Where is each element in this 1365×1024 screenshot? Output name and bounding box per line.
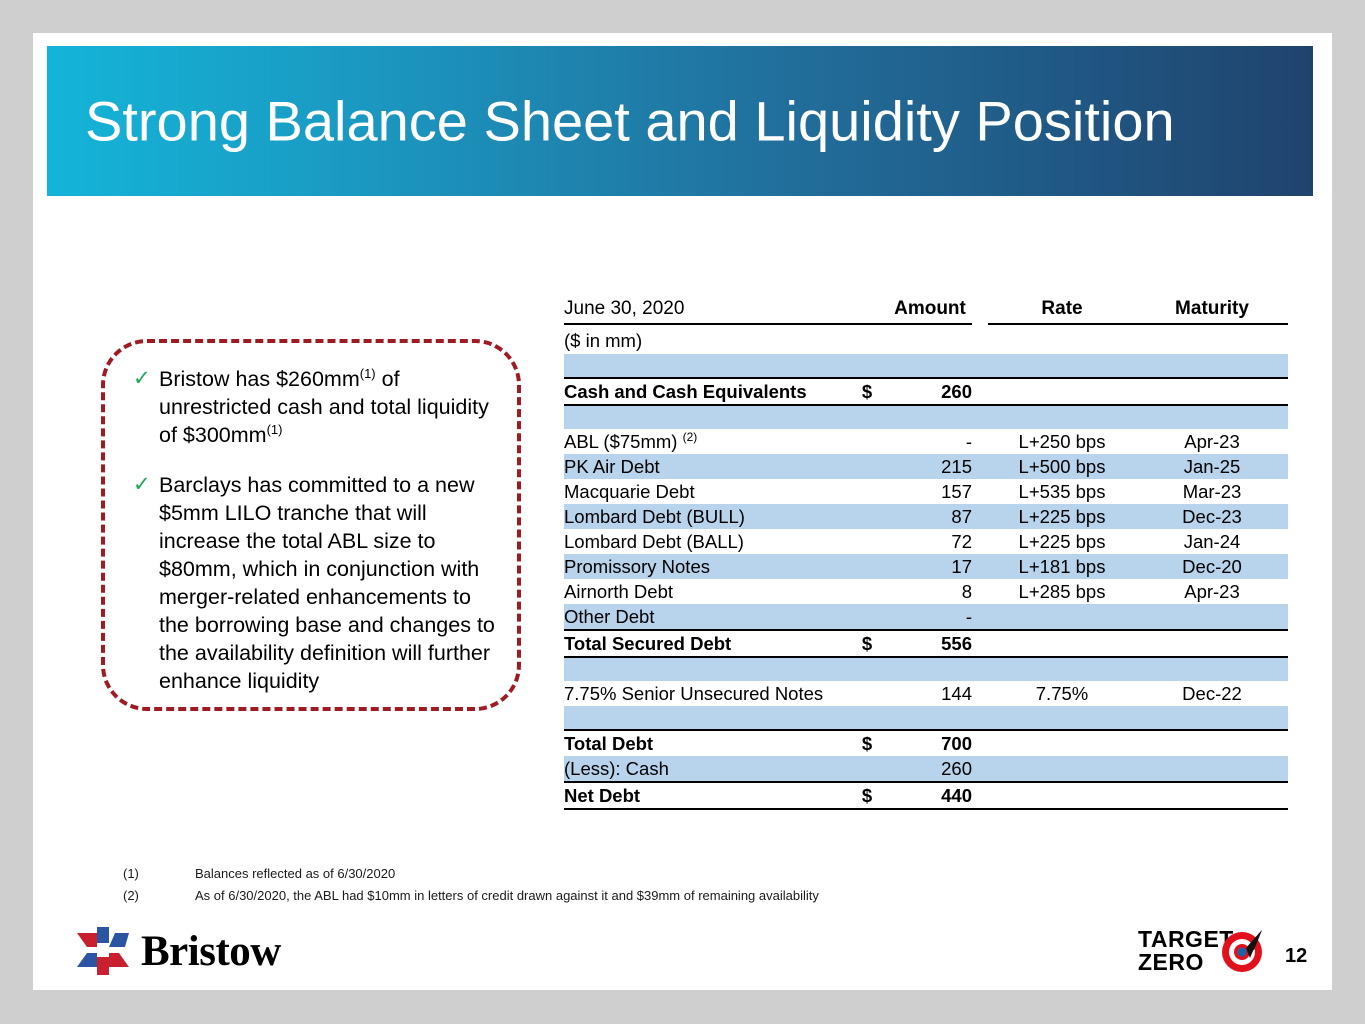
row-amount: - [888,604,972,630]
net-debt-maturity [1136,782,1288,809]
row-amount: 215 [888,454,972,479]
total-secured-amount: 556 [888,630,972,657]
liquidity-callout-box: ✓Bristow has $260mm(1) of unrestricted c… [101,339,521,711]
footnote-text: As of 6/30/2020, the ABL had $10mm in le… [195,885,819,907]
bristow-logo: Bristow [73,923,293,985]
unsecured-rate: 7.75% [988,681,1136,706]
row-amount: - [888,429,972,454]
row-amount: 17 [888,554,972,579]
row-rate: L+285 bps [988,579,1136,604]
table-row: Macquarie Debt157L+535 bpsMar-23 [564,479,1288,504]
total-secured-label: Total Secured Debt [564,630,846,657]
total-secured-dollar: $ [846,630,888,657]
row-rate [988,604,1136,630]
unsecured-amount: 144 [888,681,972,706]
table-row: Lombard Debt (BALL)72L+225 bpsJan-24 [564,529,1288,554]
total-secured-maturity [1136,630,1288,657]
table-row: Other Debt- [564,604,1288,630]
footnote-row: (1)Balances reflected as of 6/30/2020 [123,863,819,885]
callout-bullet: ✓Barclays has committed to a new $5mm LI… [133,471,503,695]
net-debt-rate [988,782,1136,809]
row-amount: 87 [888,504,972,529]
row-maturity: Apr-23 [1136,429,1288,454]
footnote-row: (2)As of 6/30/2020, the ABL had $10mm in… [123,885,819,907]
page-title: Strong Balance Sheet and Liquidity Posit… [85,89,1175,154]
table-row-net-debt: Net Debt $ 440 [564,782,1288,809]
cash-maturity [1136,378,1288,405]
check-icon: ✓ [133,471,159,499]
row-label: PK Air Debt [564,454,846,479]
cash-amount: 260 [888,378,972,405]
less-cash-amount: 260 [888,756,972,782]
spacer-row [564,706,1288,730]
callout-bullet: ✓Bristow has $260mm(1) of unrestricted c… [133,365,503,449]
total-debt-maturity [1136,730,1288,756]
row-amount: 72 [888,529,972,554]
callout-bullet-list: ✓Bristow has $260mm(1) of unrestricted c… [133,365,503,717]
header-rate: Rate [988,295,1136,324]
row-dollar [846,429,888,454]
unsecured-dollar [846,681,888,706]
cash-dollar: $ [846,378,888,405]
row-dollar [846,554,888,579]
row-label: Macquarie Debt [564,479,846,504]
table-units-row: ($ in mm) [564,328,1288,354]
cash-label: Cash and Cash Equivalents [564,378,846,405]
unsecured-maturity: Dec-22 [1136,681,1288,706]
total-debt-rate [988,730,1136,756]
row-label: Lombard Debt (BULL) [564,504,846,529]
capitalization-table: June 30, 2020 Amount Rate Maturity [564,295,1288,810]
row-maturity: Dec-20 [1136,554,1288,579]
table-row: ABL ($75mm) (2)-L+250 bpsApr-23 [564,429,1288,454]
footnote-number: (2) [123,885,195,907]
slide-canvas: Strong Balance Sheet and Liquidity Posit… [33,33,1332,990]
row-dollar [846,529,888,554]
spacer-row [564,405,1288,429]
row-label: Lombard Debt (BALL) [564,529,846,554]
net-debt-label: Net Debt [564,782,846,809]
cash-rate [988,378,1136,405]
row-amount: 8 [888,579,972,604]
spacer-row [564,657,1288,681]
row-dollar [846,504,888,529]
header-maturity: Maturity [1136,295,1288,324]
row-rate: L+500 bps [988,454,1136,479]
table-row: PK Air Debt215L+500 bpsJan-25 [564,454,1288,479]
footnotes: (1)Balances reflected as of 6/30/2020(2)… [123,863,819,907]
callout-bullet-text: Bristow has $260mm(1) of unrestricted ca… [159,365,503,449]
table-row-cash-equivalents: Cash and Cash Equivalents $ 260 [564,378,1288,405]
row-maturity: Mar-23 [1136,479,1288,504]
row-rate: L+225 bps [988,504,1136,529]
table-row-senior-unsecured-notes: 7.75% Senior Unsecured Notes 144 7.75% D… [564,681,1288,706]
row-label: Promissory Notes [564,554,846,579]
total-debt-amount: 700 [888,730,972,756]
less-cash-label: (Less): Cash [564,756,846,782]
row-maturity: Dec-23 [1136,504,1288,529]
table-row: Lombard Debt (BULL)87L+225 bpsDec-23 [564,504,1288,529]
row-label: Other Debt [564,604,846,630]
row-maturity: Jan-25 [1136,454,1288,479]
row-dollar [846,604,888,630]
row-label: ABL ($75mm) (2) [564,429,846,454]
table-row: Promissory Notes17L+181 bpsDec-20 [564,554,1288,579]
net-debt-amount: 440 [888,782,972,809]
spacer-row [564,354,1288,378]
table-row-total-secured-debt: Total Secured Debt $ 556 [564,630,1288,657]
row-rate: L+535 bps [988,479,1136,504]
table-row-less-cash: (Less): Cash 260 [564,756,1288,782]
bristow-pinwheel-icon [73,923,135,983]
row-rate: L+225 bps [988,529,1136,554]
bullseye-target-icon [1220,928,1266,974]
row-maturity: Apr-23 [1136,579,1288,604]
unsecured-label: 7.75% Senior Unsecured Notes [564,681,846,706]
less-cash-dollar [846,756,888,782]
footnote-text: Balances reflected as of 6/30/2020 [195,863,395,885]
table-row: Airnorth Debt8L+285 bpsApr-23 [564,579,1288,604]
page-number: 12 [1285,945,1307,968]
row-rate: L+181 bps [988,554,1136,579]
header-amount: Amount [888,295,972,324]
header-date: June 30, 2020 [564,295,846,324]
total-debt-label: Total Debt [564,730,846,756]
title-banner: Strong Balance Sheet and Liquidity Posit… [47,46,1313,196]
zero-word: ZERO [1138,949,1204,975]
callout-bullet-text: Barclays has committed to a new $5mm LIL… [159,471,503,695]
row-dollar [846,454,888,479]
row-amount: 157 [888,479,972,504]
header-units: ($ in mm) [564,328,846,354]
total-secured-rate [988,630,1136,657]
bristow-wordmark: Bristow [141,927,281,976]
target-zero-logo: TARGET ZERO [1138,926,1268,980]
row-maturity [1136,604,1288,630]
table-header-row: June 30, 2020 Amount Rate Maturity [564,295,1288,324]
row-dollar [846,579,888,604]
row-label: Airnorth Debt [564,579,846,604]
debt-rows-body: ABL ($75mm) (2)-L+250 bpsApr-23PK Air De… [564,429,1288,630]
less-cash-maturity [1136,756,1288,782]
row-rate: L+250 bps [988,429,1136,454]
net-debt-dollar: $ [846,782,888,809]
row-maturity: Jan-24 [1136,529,1288,554]
table-row-total-debt: Total Debt $ 700 [564,730,1288,756]
less-cash-rate [988,756,1136,782]
row-dollar [846,479,888,504]
footnote-number: (1) [123,863,195,885]
check-icon: ✓ [133,365,159,393]
total-debt-dollar: $ [846,730,888,756]
